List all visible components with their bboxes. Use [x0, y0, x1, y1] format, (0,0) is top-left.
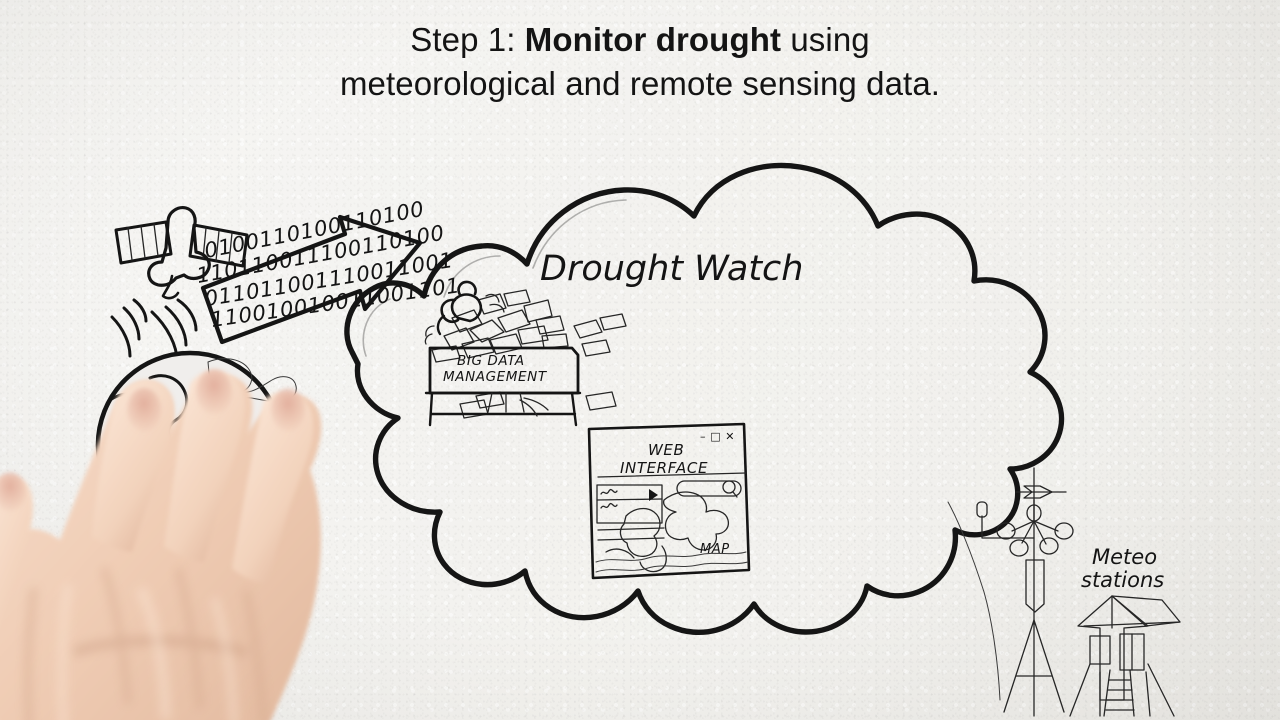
whiteboard-animation-frame: Step 1: Monitor drought using meteorolog…: [0, 0, 1280, 720]
search-input[interactable]: [677, 481, 741, 497]
window-controls[interactable]: – □ ✕: [700, 430, 735, 443]
svg-text:Meteo: Meteo: [1092, 545, 1157, 569]
data-link-line: [948, 502, 1000, 700]
map-drawing: MAP: [596, 492, 748, 572]
play-triangle-icon: [649, 489, 658, 501]
title-line-1: Step 1: Monitor drought using: [0, 18, 1280, 62]
binary-digits: 0100110100110100 110110011100110100 0110…: [195, 197, 462, 332]
title-line-2: meteorological and remote sensing data.: [0, 62, 1280, 106]
overwhelmed-worker-icon: [425, 282, 504, 344]
whiteboard-illustration: Drought Watch: [0, 0, 1280, 720]
thumb: [0, 475, 33, 674]
paper-texture-background: [0, 0, 1280, 720]
globe-icon: [98, 353, 296, 537]
svg-text:110110011100110100: 110110011100110100: [195, 221, 447, 288]
presenter-hand: [0, 352, 324, 720]
meteo-station-hut-icon: [1070, 596, 1180, 716]
hand-highlight: [62, 584, 234, 720]
middle-fingertip: [196, 369, 232, 415]
binary-data-arrow-icon: 0100110100110100 110110011100110100 0110…: [195, 197, 462, 342]
title-prefix: Step 1:: [410, 21, 525, 58]
web-interface-title-line2: INTERFACE: [620, 459, 708, 477]
svg-text:110010010011001101: 110010010011001101: [209, 273, 461, 332]
big-data-management-illustration: BIG DATA MANAGEMENT: [425, 282, 626, 425]
meteo-stations-label: Meteo stations: [1081, 545, 1164, 592]
big-data-label-line2: MANAGEMENT: [443, 369, 548, 385]
cloud-label: Drought Watch: [540, 249, 803, 289]
page-title: Step 1: Monitor drought using meteorolog…: [0, 18, 1280, 105]
meteo-station-mast-icon: [977, 468, 1073, 716]
title-emphasis: Monitor drought: [525, 21, 781, 58]
big-data-label-line1: BIG DATA: [457, 353, 525, 369]
hand-palm: [0, 376, 321, 720]
ring-fingertip: [271, 388, 305, 432]
web-interface-title-line1: WEB: [648, 441, 684, 459]
ring-finger: [232, 392, 313, 584]
title-suffix: using: [781, 21, 870, 58]
thumb-tip: [0, 472, 26, 512]
svg-text:0100110100110100: 0100110100110100: [202, 197, 426, 263]
satellite-icon: [112, 208, 247, 361]
middle-finger: [164, 370, 245, 562]
svg-text:011011001110011001: 011011001110011001: [203, 248, 455, 311]
index-finger: [92, 381, 173, 552]
map-label: MAP: [700, 542, 730, 557]
paper-pile-icon: [432, 290, 626, 418]
index-fingertip: [127, 388, 161, 432]
web-interface-window[interactable]: – □ ✕ WEB INTERFACE: [589, 424, 749, 578]
hand-shading: [28, 568, 264, 720]
paper-vignette: [0, 0, 1280, 720]
drought-watch-cloud: Drought Watch: [347, 166, 1062, 633]
svg-text:stations: stations: [1081, 568, 1164, 592]
sidebar-panel[interactable]: [597, 485, 664, 540]
signal-waves-icon: [112, 300, 196, 361]
